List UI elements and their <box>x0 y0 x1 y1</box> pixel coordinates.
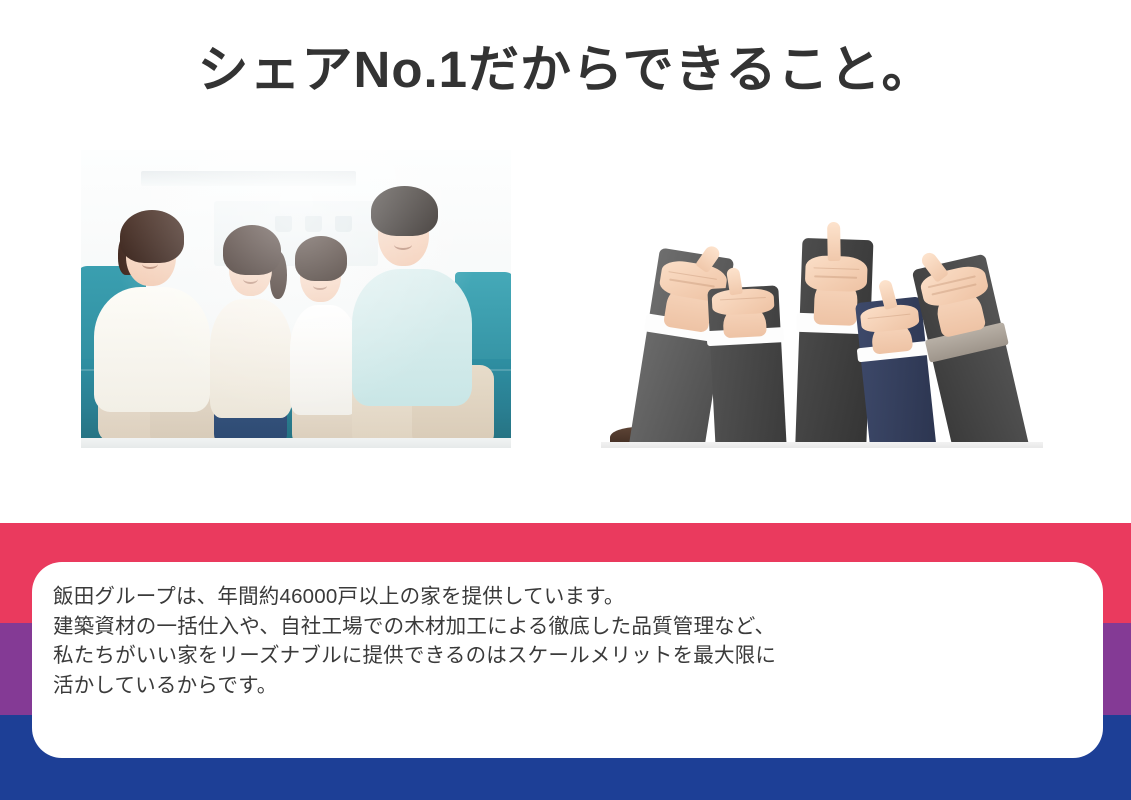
girl-torso <box>210 299 292 418</box>
boy-hair <box>295 236 347 281</box>
father-hair <box>371 186 438 237</box>
photo-row <box>0 150 1131 448</box>
knuckle-line <box>867 313 910 319</box>
fist <box>805 256 868 292</box>
family-photo <box>81 150 511 448</box>
knuckle-line <box>814 268 860 271</box>
fist <box>712 287 775 315</box>
jar-icon <box>335 216 352 232</box>
father-torso <box>352 269 472 406</box>
pointing-hands-photo <box>601 150 1043 448</box>
jar-icon <box>305 216 322 232</box>
info-card-body: 飯田グループは、年間約46000戸以上の家を提供しています。 建築資材の一括仕入… <box>53 582 776 700</box>
kitchen-shelf <box>141 171 356 186</box>
page-title: シェアNo.1だからできること。 <box>0 28 1131 102</box>
smile <box>313 282 326 291</box>
floor <box>81 438 511 448</box>
knuckle-line <box>815 276 859 279</box>
knuckle-line <box>719 297 765 301</box>
photo-baseline <box>601 442 1043 448</box>
mother-hair <box>120 210 185 264</box>
smile <box>394 239 413 250</box>
jar-icon <box>275 216 292 232</box>
mother-torso <box>94 287 210 412</box>
info-card: 飯田グループは、年間約46000戸以上の家を提供しています。 建築資材の一括仕入… <box>32 562 1103 758</box>
pointing-hand <box>707 285 786 448</box>
girl-hair <box>223 225 281 276</box>
index-finger <box>828 222 842 261</box>
knuckle-line <box>668 279 714 288</box>
boy-torso <box>290 305 359 415</box>
